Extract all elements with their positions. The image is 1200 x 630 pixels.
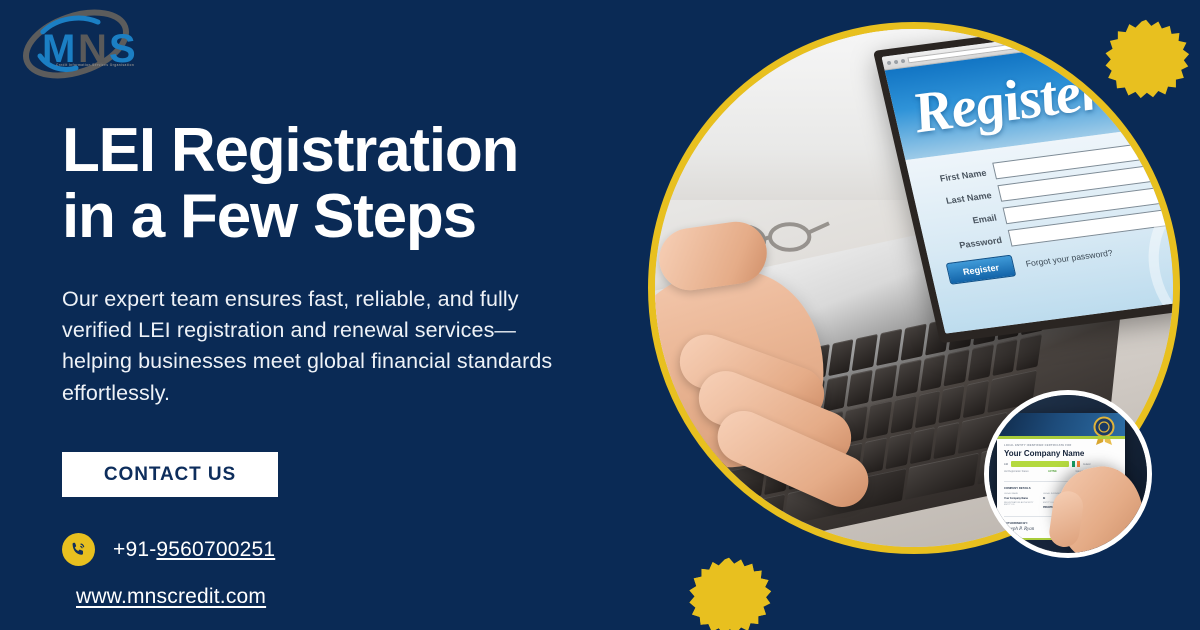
- logo-tagline: Credit Information Services Organisation: [56, 63, 134, 67]
- status-label: LEI Registration Status:: [1004, 470, 1029, 473]
- lei-label: LEI: [1004, 463, 1008, 466]
- register-submit-button[interactable]: Register: [946, 255, 1017, 285]
- browser-forward-icon: [894, 59, 899, 63]
- award-seal-icon: [1091, 416, 1117, 446]
- register-banner-word: Register: [905, 56, 1108, 146]
- label-last-name: Last Name: [924, 190, 992, 208]
- certificate-photo-circle: LOCAL ENTITY IDENTIFIER CERTIFICATE FOR …: [984, 390, 1152, 558]
- phone-prefix: +91-: [113, 538, 156, 561]
- forgot-password-link[interactable]: Forgot your password?: [1025, 248, 1114, 269]
- page-title: LEI Registration in a Few Steps: [62, 118, 662, 249]
- certificate-header-band: [997, 413, 1125, 439]
- phone-number[interactable]: +91-9560700251: [113, 538, 275, 562]
- headline-line-1: LEI Registration: [62, 116, 518, 185]
- certificate-photo: LOCAL ENTITY IDENTIFIER CERTIFICATE FOR …: [989, 395, 1147, 553]
- poster-canvas: M N S Credit Information Services Organi…: [0, 0, 1200, 630]
- certificate-company-name: Your Company Name: [1004, 449, 1118, 458]
- browser-back-icon: [887, 60, 892, 64]
- website-link[interactable]: www.mnscredit.com: [76, 585, 266, 609]
- browser-reload-icon: [900, 58, 905, 62]
- ireland-flag-icon: [1072, 461, 1080, 467]
- lei-value-highlight: [1011, 461, 1069, 467]
- starburst-badge-bottom-left: [686, 556, 772, 630]
- hero-subcopy: Our expert team ensures fast, reliable, …: [62, 284, 562, 409]
- status-value: ACTIVE: [1048, 470, 1057, 473]
- label-password: Password: [935, 235, 1003, 253]
- certificate-country: Ireland: [1083, 463, 1090, 466]
- detail-label: LEGAL NAME: [1004, 493, 1040, 495]
- headline-line-2: in a Few Steps: [62, 184, 662, 250]
- contact-us-button[interactable]: CONTACT US: [62, 452, 278, 497]
- label-first-name: First Name: [919, 167, 987, 185]
- mns-logo[interactable]: M N S Credit Information Services Organi…: [14, 6, 146, 84]
- phone-digits: 9560700251: [156, 538, 275, 561]
- detail-label: REGISTRATION AUTHORITY ENTITY ID: [1004, 502, 1040, 506]
- label-email: Email: [930, 212, 998, 230]
- detail-cell: LEGAL NAME Your Company Name REGISTRATIO…: [1004, 493, 1040, 509]
- detail-value: Your Company Name: [1004, 497, 1040, 500]
- phone-icon: [62, 533, 95, 566]
- phone-contact-row[interactable]: +91-9560700251: [62, 533, 275, 566]
